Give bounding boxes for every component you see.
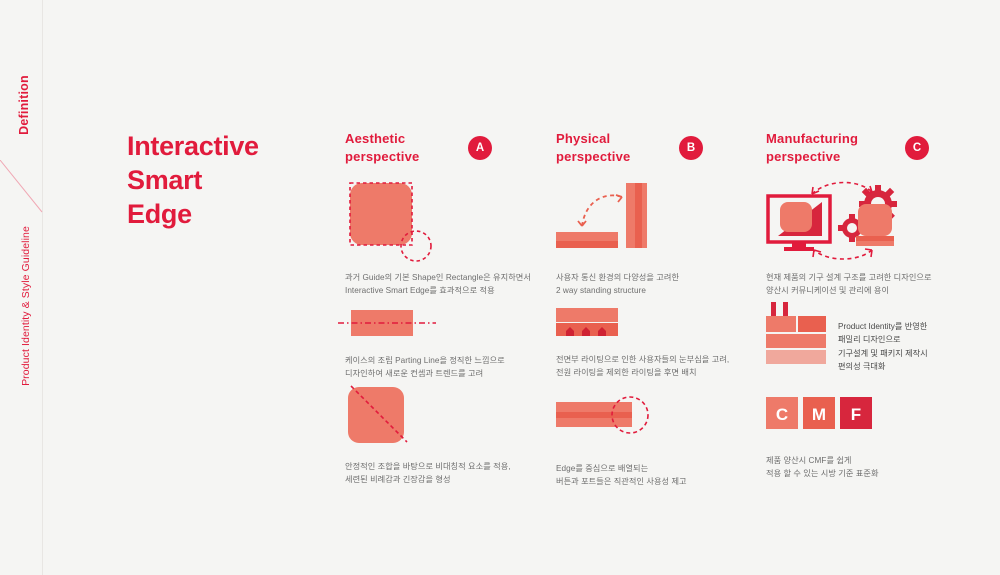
caption-aesthetic-2-line-2: 디자인하여 새로운 컨셉과 트렌드를 고려	[345, 367, 553, 380]
badge-c: C	[905, 136, 929, 160]
block-manufacturing-2: Product Identity를 반영한 패밀리 디자인으로 기구설계 및 패…	[766, 302, 981, 379]
icon-cmf-swatches-icon: C M F	[766, 395, 981, 440]
caption-physical-1-line-2: 2 way standing structure	[556, 284, 771, 297]
icon-monitor-and-gears-icon	[766, 180, 981, 263]
caption-manufacturing-3-line-2: 적용 할 수 있는 시방 기준 표준화	[766, 467, 981, 480]
svg-text:F: F	[851, 405, 861, 424]
column-title-aesthetic: Aesthetic perspective	[345, 130, 545, 165]
column-title-physical: Physical perspective	[556, 130, 756, 165]
column-header-physical: Physical perspective B	[556, 130, 756, 174]
icon-rectangle-parting-line-icon	[338, 305, 553, 344]
caption-manufacturing-3-line-1: 제품 양산시 CMF를 쉽게	[766, 454, 981, 467]
caption-manufacturing-2-line-1: Product Identity를 반영한	[838, 320, 928, 333]
caption-physical-2-line-2: 전원 라이팅을 제외한 라이팅을 후면 배치	[556, 366, 771, 379]
block-manufacturing-1: 현재 제품의 기구 설계 구조를 고려한 디자인으로 양산시 커뮤니케이션 및 …	[766, 180, 981, 298]
caption-manufacturing-1-line-1: 현재 제품의 기구 설계 구조를 고려한 디자인으로	[766, 271, 981, 284]
badge-a: A	[468, 136, 492, 160]
block-aesthetic-1: 과거 Guide의 기본 Shape인 Rectangle은 유지하면서 Int…	[345, 180, 560, 298]
caption-physical-3-line-1: Edge를 중심으로 배열되는	[556, 462, 771, 475]
caption-physical-2-line-1: 전면부 라이팅으로 인한 사용자들의 눈부심을 고려,	[556, 353, 771, 366]
caption-manufacturing-2-line-4: 편의성 극대화	[838, 360, 928, 373]
block-physical-2: 전면부 라이팅으로 인한 사용자들의 눈부심을 고려, 전원 라이팅을 제외한 …	[556, 308, 771, 380]
caption-physical-3-line-2: 버튼과 포트들은 직관적인 사용성 제고	[556, 475, 771, 488]
caption-aesthetic-3-line-2: 세련된 비례감과 긴장감을 형성	[345, 473, 560, 486]
column-title-line-2: perspective	[345, 148, 545, 166]
column-physical: Physical perspective B	[556, 130, 756, 174]
caption-manufacturing-2-line-2: 패밀리 디자인으로	[838, 333, 928, 346]
icon-rounded-square-diagonal-icon	[345, 385, 560, 450]
badge-b: B	[679, 136, 703, 160]
icon-rear-lighting-ports-panel-icon	[556, 308, 771, 343]
caption-manufacturing-2-line-3: 기구설계 및 패키지 제작시	[838, 347, 928, 360]
page-title-line-1: Interactive	[127, 130, 259, 164]
block-manufacturing-3: C M F 제품 양산시 CMF를 쉽게 적용 할 수 있는 시방 기준 표준화	[766, 395, 981, 481]
column-title-manufacturing: Manufacturing perspective	[766, 130, 966, 165]
column-header-manufacturing: Manufacturing perspective C	[766, 130, 966, 174]
sidebar-section-tab: Definition	[4, 62, 44, 172]
icon-edge-aligned-buttons-ports-icon	[556, 390, 771, 450]
caption-aesthetic-2-line-1: 케이스의 조립 Parting Line을 정직한 느낌으로	[345, 354, 553, 367]
column-title-line-2: perspective	[556, 148, 756, 166]
column-manufacturing: Manufacturing perspective C	[766, 130, 966, 174]
guideline-page: Definition Product Identity & Style Guid…	[0, 0, 1000, 575]
block-physical-3: Edge를 중심으로 배열되는 버튼과 포트들은 직관적인 사용성 제고	[556, 390, 771, 489]
column-aesthetic: Aesthetic perspective A	[345, 130, 545, 174]
column-header-aesthetic: Aesthetic perspective A	[345, 130, 545, 174]
caption-aesthetic-3-line-1: 안정적인 조합을 바탕으로 비대칭적 요소를 적용,	[345, 460, 560, 473]
icon-two-way-standing-structure-icon	[556, 180, 771, 263]
block-physical-1: 사용자 통신 환경의 다양성을 고려한 2 way standing struc…	[556, 180, 771, 298]
block-aesthetic-2: 케이스의 조립 Parting Line을 정직한 느낌으로 디자인하여 새로운…	[338, 305, 553, 381]
block-aesthetic-3: 안정적인 조합을 바탕으로 비대칭적 요소를 적용, 세련된 비례감과 긴장감을…	[345, 385, 560, 487]
page-title-line-2: Smart	[127, 164, 259, 198]
column-title-line-1: Aesthetic	[345, 130, 545, 148]
column-title-line-1: Physical	[556, 130, 756, 148]
caption-manufacturing-1-line-2: 양산시 커뮤니케이션 및 관리에 용이	[766, 284, 981, 297]
caption-aesthetic-1-line-2: Interactive Smart Edge를 효과적으로 적용	[345, 284, 560, 297]
caption-physical-1-line-1: 사용자 통신 환경의 다양성을 고려한	[556, 271, 771, 284]
sidebar-section-label: Definition	[17, 49, 31, 161]
page-title-line-3: Edge	[127, 198, 259, 232]
sidebar-document-label: Product Identity & Style Guideline	[20, 206, 32, 406]
column-title-line-1: Manufacturing	[766, 130, 966, 148]
page-title: Interactive Smart Edge	[127, 130, 259, 231]
column-title-line-2: perspective	[766, 148, 966, 166]
svg-text:C: C	[776, 405, 788, 424]
icon-rounded-square-dashed-outline-icon	[345, 180, 560, 263]
caption-aesthetic-1-line-1: 과거 Guide의 기본 Shape인 Rectangle은 유지하면서	[345, 271, 560, 284]
svg-text:M: M	[812, 405, 826, 424]
